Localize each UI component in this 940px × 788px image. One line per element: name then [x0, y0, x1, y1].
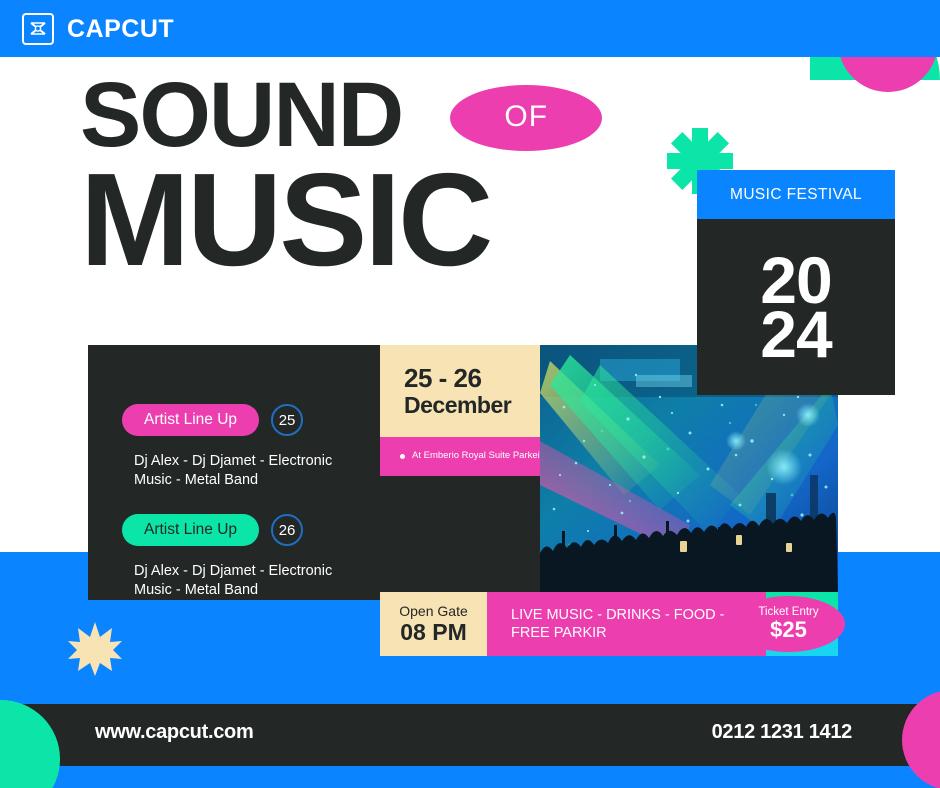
venue-bar: At Emberio Royal Suite Parkei [380, 437, 540, 476]
lineup-header-25: Artist Line Up 25 [122, 404, 346, 436]
date-card-top: 25 - 26 December [380, 345, 540, 437]
lineup-block-25: Artist Line Up 25 Dj Alex - Dj Djamet - … [122, 404, 346, 490]
perks-text: LIVE MUSIC - DRINKS - FOOD - FREE PARKIR [511, 606, 766, 642]
brand-topbar: CAPCUT [0, 0, 940, 57]
open-gate-label: Open Gate [399, 603, 468, 619]
lineup-header-26: Artist Line Up 26 [122, 514, 346, 546]
ticket-entry-badge[interactable]: Ticket Entry $25 [732, 596, 845, 652]
capcut-logo-icon [22, 13, 54, 45]
festival-badge: MUSIC FESTIVAL 20 24 [697, 170, 895, 395]
date-card: 25 - 26 December At Emberio Royal Suite … [380, 345, 540, 476]
date-month: December [404, 393, 540, 417]
lineup-artists-25: Dj Alex - Dj Djamet - Electronic Music -… [134, 452, 346, 490]
lineup-day-26: 26 [271, 514, 303, 546]
open-gate-block: Open Gate 08 PM [380, 592, 487, 656]
festival-label-bar: MUSIC FESTIVAL [697, 170, 895, 219]
lineup-pill-25[interactable]: Artist Line Up [122, 404, 259, 436]
footer-website[interactable]: www.capcut.com [95, 721, 253, 744]
festival-year-box: 20 24 [697, 219, 895, 395]
headline-of-text: OF [504, 105, 548, 130]
poster-canvas: CAPCUT SOUND OF MUSIC MUSIC FESTIVAL [0, 0, 940, 788]
lineup-pill-26[interactable]: Artist Line Up [122, 514, 259, 546]
open-gate-time: 08 PM [400, 619, 466, 645]
lineup-block-26: Artist Line Up 26 Dj Alex - Dj Djamet - … [122, 514, 346, 600]
brand-logo[interactable]: CAPCUT [22, 13, 174, 45]
venue-bullet-icon [400, 454, 405, 459]
brand-name: CAPCUT [67, 15, 174, 44]
date-range: 25 - 26 [404, 365, 540, 392]
festival-label: MUSIC FESTIVAL [730, 186, 862, 204]
headline-of-badge: OF [450, 85, 602, 151]
venue-text: At Emberio Royal Suite Parkei [412, 451, 540, 462]
info-strip: Open Gate 08 PM LIVE MUSIC - DRINKS - FO… [380, 592, 838, 656]
lineup-day-25: 25 [271, 404, 303, 436]
headline-row-1: SOUND OF [80, 78, 602, 153]
headline-sound: SOUND [80, 78, 402, 153]
footer-blue-strip [0, 766, 940, 788]
footer-phone[interactable]: 0212 1231 1412 [712, 721, 852, 744]
festival-year-bottom: 24 [760, 307, 831, 361]
lineup-artists-26: Dj Alex - Dj Djamet - Electronic Music -… [134, 562, 346, 600]
ticket-entry-price: $25 [770, 618, 807, 642]
headline-music: MUSIC [80, 165, 602, 276]
cream-starburst-icon [68, 622, 122, 676]
perks-block: LIVE MUSIC - DRINKS - FOOD - FREE PARKIR [487, 592, 766, 656]
headline-block: SOUND OF MUSIC [80, 78, 602, 276]
